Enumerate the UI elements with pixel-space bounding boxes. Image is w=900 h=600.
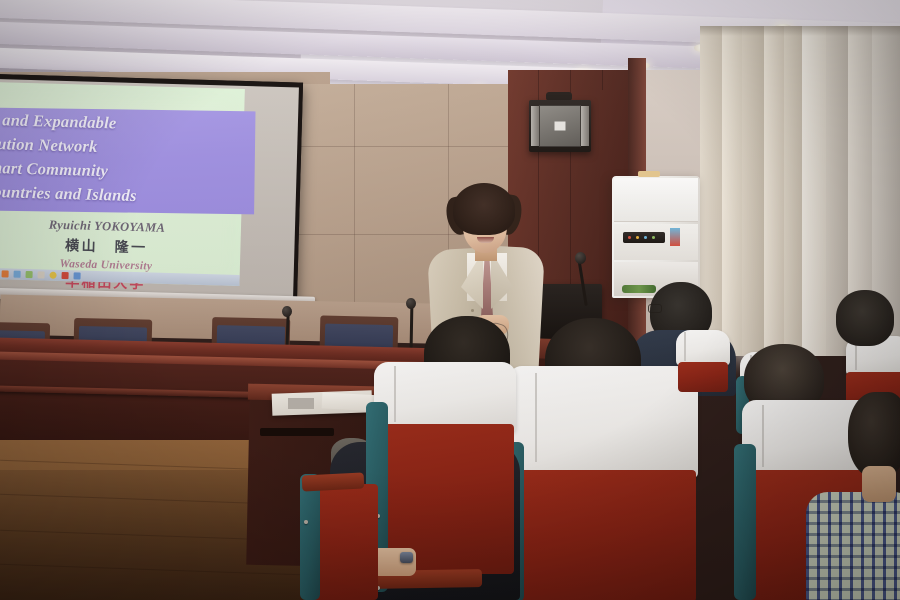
- eyeglasses-icon: [648, 304, 662, 313]
- ac-energy-label: [670, 228, 680, 246]
- mail-icon[interactable]: [73, 272, 80, 279]
- air-conditioner: [612, 176, 700, 298]
- slide-title: ilient and Expandable istribution Networ…: [0, 107, 252, 211]
- auditorium-seat[interactable]: [300, 474, 378, 600]
- ac-top-cap: [638, 171, 660, 177]
- chrome-icon[interactable]: [49, 272, 56, 279]
- attendee-right-edge-neck: [862, 466, 896, 502]
- media-icon[interactable]: [26, 271, 33, 278]
- wall-speaker: [529, 100, 591, 152]
- folder-icon[interactable]: [14, 271, 21, 278]
- attendee-back-right-head: [836, 290, 894, 346]
- presenter-hair: [453, 183, 515, 235]
- ac-control-panel[interactable]: [623, 232, 665, 243]
- browser-icon[interactable]: [2, 270, 9, 277]
- auditorium-seat[interactable]: [676, 330, 730, 390]
- potted-plant: [622, 285, 656, 293]
- curtain-rod-shadow: [700, 26, 900, 36]
- auditorium-seat[interactable]: [508, 366, 698, 600]
- jbl-logo-icon: [555, 122, 566, 131]
- attendee-right-edge-shirt: [806, 492, 900, 600]
- microphone-head-icon: [406, 298, 416, 309]
- conference-room-photo: ilient and Expandable istribution Networ…: [0, 0, 900, 600]
- microphone-head-icon: [575, 252, 586, 264]
- lectern-slot: [260, 428, 334, 436]
- microphone-head-icon: [282, 306, 292, 317]
- projection-screen: ilient and Expandable istribution Networ…: [0, 73, 303, 306]
- speaker-grille: [539, 105, 581, 147]
- pdf-icon[interactable]: [61, 272, 68, 279]
- presentation-slide: ilient and Expandable istribution Networ…: [0, 82, 245, 286]
- wristwatch: [400, 552, 413, 563]
- app-icon[interactable]: [37, 271, 44, 278]
- document-inset: [288, 398, 314, 409]
- screen-surface: ilient and Expandable istribution Networ…: [0, 79, 299, 302]
